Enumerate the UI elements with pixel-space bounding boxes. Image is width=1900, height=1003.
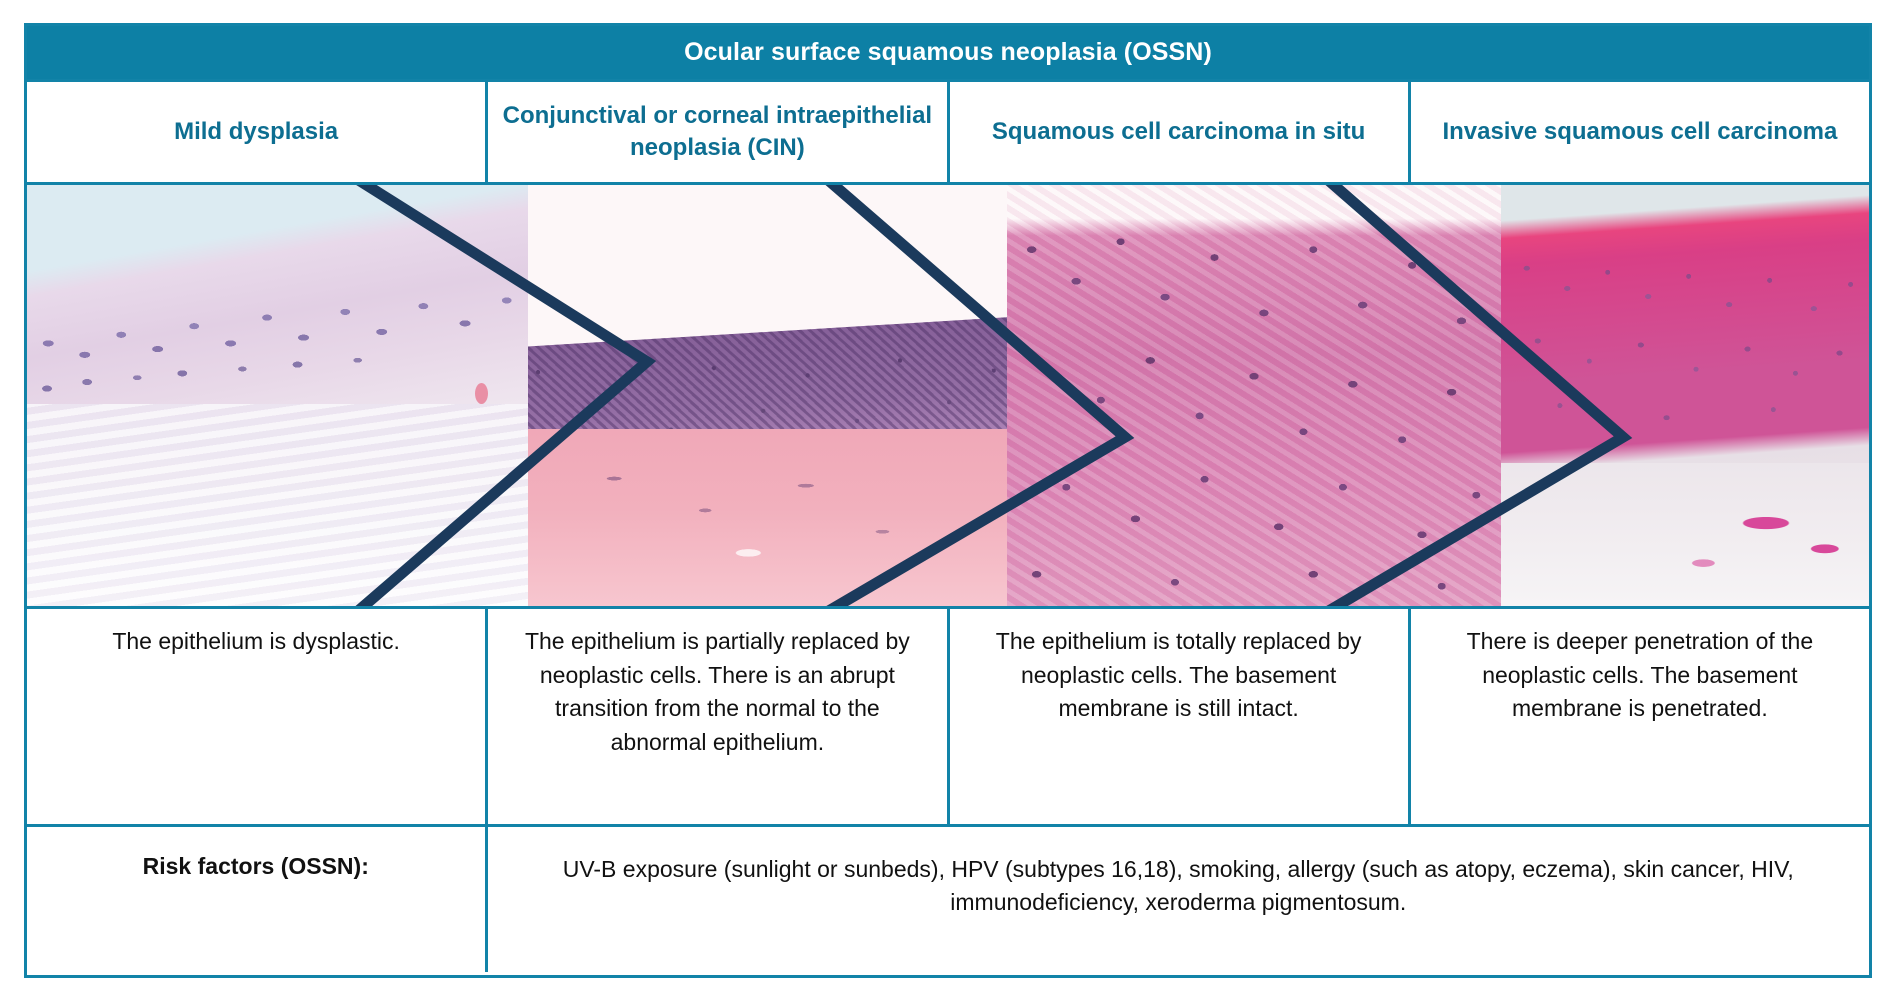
column-header-invasive-scc: Invasive squamous cell carcinoma <box>1411 82 1869 182</box>
figure-title-bar: Ocular surface squamous neoplasia (OSSN) <box>27 26 1869 79</box>
risk-factors-row: Risk factors (OSSN): UV-B exposure (sunl… <box>27 824 1869 972</box>
description-text: The epithelium is dysplastic. <box>112 628 400 654</box>
invasion-front-layer <box>1501 463 1869 606</box>
column-header-row: Mild dysplasia Conjunctival or corneal i… <box>27 79 1869 182</box>
column-header-label: Invasive squamous cell carcinoma <box>1442 116 1837 148</box>
column-header-carcinoma-in-situ: Squamous cell carcinoma in situ <box>950 82 1411 182</box>
stroma-layer <box>27 404 528 606</box>
description-cell-mild-dysplasia: The epithelium is dysplastic. <box>27 609 488 824</box>
description-text: The epithelium is partially replaced by … <box>525 628 910 755</box>
description-text: The epithelium is totally replaced by ne… <box>996 628 1362 721</box>
description-text: There is deeper penetration of the neopl… <box>1467 628 1814 721</box>
figure-title: Ocular surface squamous neoplasia (OSSN) <box>684 38 1212 67</box>
description-cell-invasive-scc: There is deeper penetration of the neopl… <box>1411 609 1869 824</box>
description-cell-cin: The epithelium is partially replaced by … <box>488 609 949 824</box>
blood-vessel <box>475 383 488 404</box>
neoplastic-nuclei-layer <box>1007 210 1501 606</box>
description-cell-carcinoma-in-situ: The epithelium is totally replaced by ne… <box>950 609 1411 824</box>
risk-factors-label-cell: Risk factors (OSSN): <box>27 827 488 972</box>
column-header-label: Conjunctival or corneal intraepithelial … <box>498 100 936 164</box>
stroma-layer <box>528 429 1007 606</box>
risk-factors-text: UV-B exposure (sunlight or sunbeds), HPV… <box>563 856 1794 915</box>
neoplastic-nuclei-layer <box>1501 244 1869 446</box>
description-row: The epithelium is dysplastic. The epithe… <box>27 606 1869 824</box>
risk-factors-label: Risk factors (OSSN): <box>143 853 369 880</box>
column-header-mild-dysplasia: Mild dysplasia <box>27 82 488 182</box>
histology-panel-invasive-scc <box>1501 185 1869 606</box>
column-header-cin: Conjunctival or corneal intraepithelial … <box>488 82 949 182</box>
risk-factors-value-cell: UV-B exposure (sunlight or sunbeds), HPV… <box>488 827 1870 972</box>
ossn-progression-figure: Ocular surface squamous neoplasia (OSSN)… <box>24 23 1872 978</box>
histology-panel-mild-dysplasia <box>27 185 528 606</box>
column-header-label: Mild dysplasia <box>174 116 338 148</box>
histology-panel-cin <box>528 185 1007 606</box>
histology-panel-carcinoma-in-situ <box>1007 185 1501 606</box>
column-header-label: Squamous cell carcinoma in situ <box>992 116 1365 148</box>
histology-panels <box>27 185 1869 606</box>
histology-image-strip <box>27 182 1869 606</box>
